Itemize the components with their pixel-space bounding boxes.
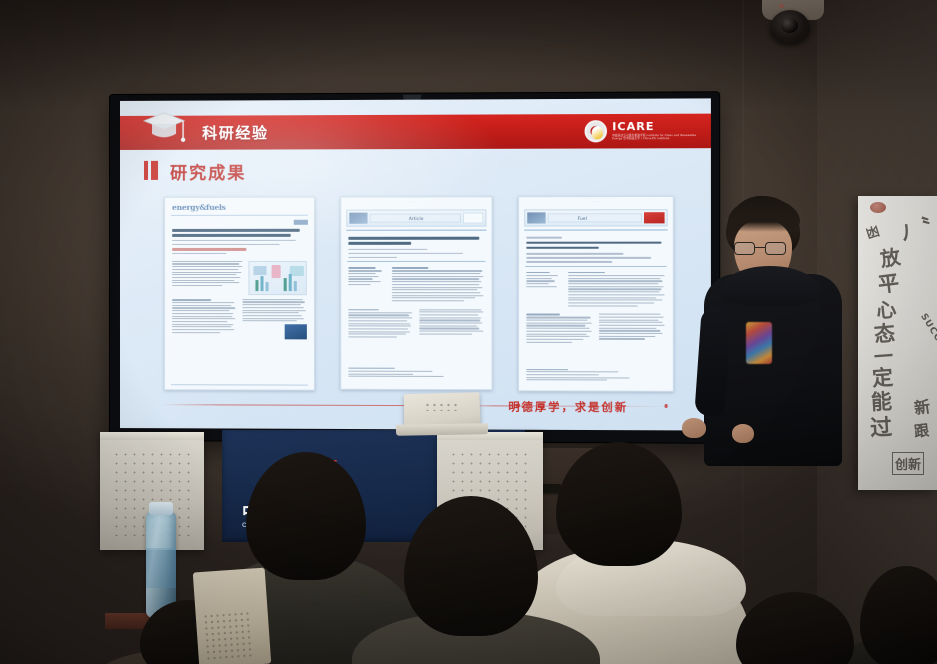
publisher-badge bbox=[644, 212, 665, 223]
paper-title-block bbox=[341, 231, 491, 259]
paper-text-column bbox=[172, 261, 243, 295]
icare-mark-icon bbox=[585, 120, 608, 142]
journal-banner-label: Article bbox=[347, 215, 485, 220]
divider bbox=[346, 230, 486, 231]
presenter-hand bbox=[682, 418, 706, 438]
speaker-top-panel bbox=[100, 432, 204, 440]
bottle-cap-icon bbox=[149, 502, 173, 515]
presentation-display[interactable]: 科研经验 ICARE 中欧清洁与可再生能源学院 Institute for Cl… bbox=[110, 92, 719, 443]
camera-lens-icon bbox=[781, 18, 798, 33]
paper-body bbox=[519, 267, 673, 308]
icare-logo: ICARE 中欧清洁与可再生能源学院 Institute for Clean a… bbox=[585, 120, 697, 143]
laptop-keyboard-icon bbox=[424, 402, 458, 411]
whiteboard-magnet-icon bbox=[870, 202, 886, 213]
paper-qr-block bbox=[285, 325, 307, 340]
paper-footnotes bbox=[526, 369, 665, 383]
whiteboard-stroke: 跟 bbox=[913, 419, 930, 441]
graphical-abstract bbox=[248, 261, 306, 295]
laptop-base bbox=[396, 423, 488, 436]
journal-banner: Fuel bbox=[524, 209, 667, 226]
paper-thumbnail[interactable]: energy&fuels bbox=[164, 197, 315, 391]
whiteboard-note: 过 bbox=[869, 409, 893, 442]
paper-thumbnail[interactable]: · · · · · · Fuel bbox=[518, 196, 674, 392]
journal-banner-label: Fuel bbox=[525, 215, 640, 220]
section-marker bbox=[151, 161, 158, 180]
icare-logo-name: ICARE bbox=[612, 121, 696, 132]
paper-thumbnail[interactable]: · · · · · · · · · Article bbox=[340, 196, 492, 390]
paper-columns bbox=[165, 295, 314, 340]
slide-section-title: 研究成果 bbox=[170, 159, 246, 184]
paper-thumbnails: energy&fuels bbox=[164, 196, 674, 395]
divider bbox=[171, 215, 308, 216]
display-panel: 科研经验 ICARE 中欧清洁与可再生能源学院 Institute for Cl… bbox=[120, 98, 711, 430]
presenter-hand bbox=[732, 424, 754, 443]
presenter-hood bbox=[718, 266, 822, 306]
whiteboard-stroke: 凼 bbox=[863, 220, 881, 242]
icare-logo-subtitle: 中欧清洁与可再生能源学院 Institute for Clean and Ren… bbox=[612, 133, 696, 141]
paper-badge bbox=[294, 220, 308, 225]
journal-banner: Article bbox=[346, 209, 486, 226]
bottle-sleeve bbox=[146, 548, 176, 588]
paper-header-note: · · · · · · bbox=[519, 197, 673, 203]
paper-title-block bbox=[519, 230, 673, 262]
whiteboard-note: 新 bbox=[912, 393, 931, 419]
paper-footnotes bbox=[348, 368, 484, 379]
paper-columns bbox=[519, 308, 673, 345]
slide-breadcrumb: 科研经验 bbox=[202, 122, 268, 143]
footer-slogan: 明德厚学，求是创新 bbox=[471, 398, 665, 415]
section-marker bbox=[144, 161, 148, 180]
whiteboard: ﾉ〝 凼 放 平 心 态 一 定 能 过 SUCCESS 新 跟 创新 bbox=[858, 196, 937, 490]
lecture-room: ﾉ〝 凼 放 平 心 态 一 定 能 过 SUCCESS 新 跟 创新 bbox=[0, 0, 937, 664]
slide-canvas: 科研经验 ICARE 中欧清洁与可再生能源学院 Institute for Cl… bbox=[120, 98, 711, 430]
paper-body bbox=[165, 257, 314, 295]
whiteboard-boxed-note: 创新 bbox=[892, 452, 924, 475]
eyeglasses-icon bbox=[734, 242, 786, 255]
presenter bbox=[694, 196, 844, 466]
slide-header-band: 科研经验 ICARE 中欧清洁与可再生能源学院 Institute for Cl… bbox=[120, 114, 711, 150]
bag-pattern bbox=[202, 610, 251, 661]
hoodie-graphic-print bbox=[746, 322, 772, 364]
camera-led-icon bbox=[779, 4, 784, 8]
divider bbox=[524, 229, 667, 230]
journal-masthead: energy&fuels bbox=[165, 198, 314, 212]
paper-title-block bbox=[165, 216, 314, 255]
paper-header-note: · · · · · · · · · bbox=[341, 197, 491, 203]
graduation-cap-icon bbox=[142, 108, 186, 148]
divider bbox=[171, 384, 308, 385]
paper-body bbox=[341, 262, 491, 303]
whiteboard-stroke: ﾉ〝 bbox=[896, 210, 935, 248]
whiteboard-sidetext: SUCCESS bbox=[918, 312, 937, 362]
paper-columns bbox=[341, 303, 491, 340]
